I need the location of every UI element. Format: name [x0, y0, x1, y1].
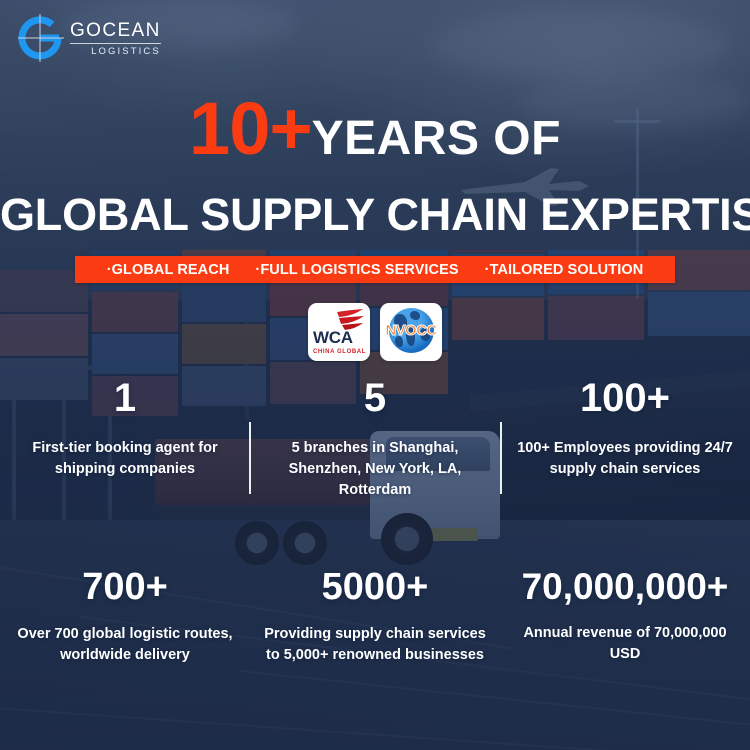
banner-item-tailored-solution: ·TAILORED SOLUTION	[485, 262, 644, 278]
feature-banner: ·GLOBAL REACH ·FULL LOGISTICS SERVICES ·…	[75, 256, 675, 283]
headline-line-2: GLOBAL SUPPLY CHAIN EXPERTISE	[0, 192, 750, 237]
stats-row-2: 700+ Over 700 global logistic routes, wo…	[0, 568, 750, 688]
badge-nvocc-name: NVOCC	[380, 323, 442, 338]
badge-wca[interactable]: WCA CHINA GLOBAL	[308, 303, 370, 361]
stat-description: First-tier booking agent for shipping co…	[14, 438, 236, 480]
stat-number: 5000+	[322, 568, 429, 606]
stat-description: 100+ Employees providing 24/7 supply cha…	[514, 438, 736, 480]
stat-description: 5 branches in Shanghai, Shenzhen, New Yo…	[264, 438, 486, 501]
logo-name: GOCEAN	[70, 21, 161, 40]
badge-nvocc[interactable]: NVOCC	[380, 303, 442, 361]
stat-divider	[249, 422, 251, 494]
stat-card: 100+ 100+ Employees providing 24/7 suppl…	[500, 378, 750, 518]
banner-item-global-reach: ·GLOBAL REACH	[107, 262, 230, 278]
stat-divider	[500, 422, 502, 494]
gocean-g-mark-icon	[14, 12, 66, 64]
stat-description: Providing supply chain services to 5,000…	[264, 624, 486, 666]
stat-card: 700+ Over 700 global logistic routes, wo…	[0, 568, 250, 688]
banner-item-full-logistics-services: ·FULL LOGISTICS SERVICES	[255, 262, 458, 278]
stat-number: 70,000,000+	[522, 568, 729, 605]
brand-logo[interactable]: GOCEAN LOGISTICS	[14, 12, 161, 64]
promotional-poster: GOCEAN LOGISTICS 10+YEARS OF GLOBAL SUPP…	[0, 0, 750, 750]
stat-number: 1	[114, 378, 136, 418]
stat-card: 1 First-tier booking agent for shipping …	[0, 378, 250, 518]
badge-wca-name: WCA	[313, 329, 353, 346]
stat-number: 700+	[82, 568, 168, 606]
logo-divider	[70, 43, 161, 44]
statistics-section: 1 First-tier booking agent for shipping …	[0, 378, 750, 698]
stat-description: Annual revenue of 70,000,000 USD	[514, 623, 736, 665]
badge-wca-subtitle: CHINA GLOBAL	[313, 349, 366, 355]
stat-description: Over 700 global logistic routes, worldwi…	[14, 624, 236, 666]
headline-number: 10+	[189, 87, 312, 170]
stats-row-1: 1 First-tier booking agent for shipping …	[0, 378, 750, 518]
certification-badges: WCA CHINA GLOBAL NVOCC	[0, 303, 750, 361]
headline-line-1: 10+YEARS OF	[0, 92, 750, 166]
stat-number: 100+	[580, 378, 670, 418]
stat-card: 70,000,000+ Annual revenue of 70,000,000…	[500, 568, 750, 688]
stat-card: 5000+ Providing supply chain services to…	[250, 568, 500, 688]
stat-number: 5	[364, 378, 386, 418]
logo-wordmark: GOCEAN LOGISTICS	[70, 19, 161, 57]
headline-years-of: YEARS OF	[312, 112, 561, 165]
logo-subtitle: LOGISTICS	[91, 47, 161, 57]
stat-card: 5 5 branches in Shanghai, Shenzhen, New …	[250, 378, 500, 518]
